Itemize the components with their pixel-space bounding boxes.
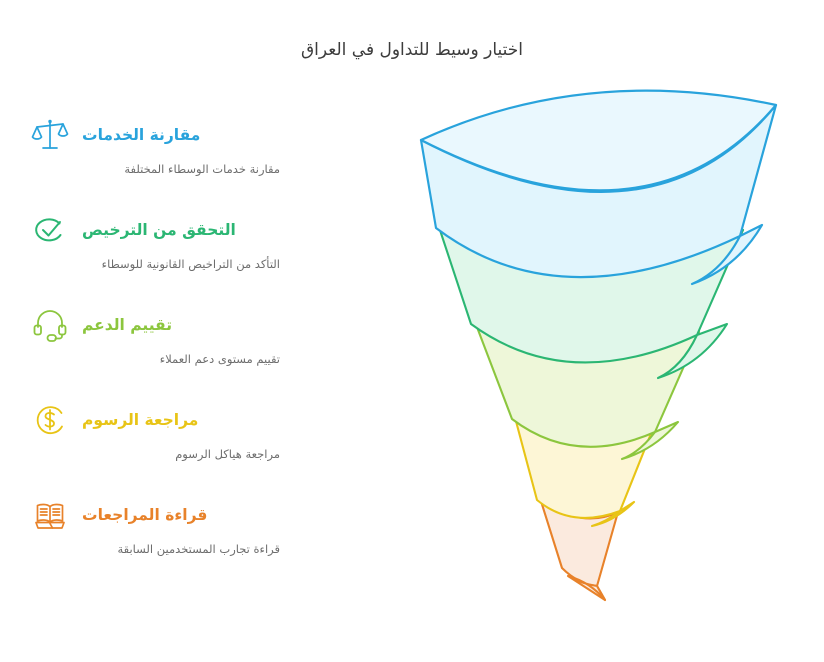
- headset-icon: [30, 305, 70, 345]
- page-title: اختيار وسيط للتداول في العراق: [0, 40, 824, 60]
- step-header: التحقق من الترخيص: [30, 207, 280, 253]
- step-header: مقارنة الخدمات: [30, 112, 280, 158]
- step-description: مراجعة هياكل الرسوم: [30, 447, 280, 461]
- open-book-icon: [30, 495, 70, 535]
- step-title: مراجعة الرسوم: [82, 411, 198, 429]
- step-description: قراءة تجارب المستخدمين السابقة: [30, 542, 280, 556]
- balance-scales-icon: [30, 115, 70, 155]
- step-description: التأكد من التراخيص القانونية للوسطاء: [30, 257, 280, 271]
- step-item-compare-services[interactable]: مقارنة الخدمات مقارنة خدمات الوسطاء المخ…: [30, 112, 280, 207]
- step-item-evaluate-support[interactable]: تقييم الدعم تقييم مستوى دعم العملاء: [30, 302, 280, 397]
- step-title: تقييم الدعم: [82, 316, 172, 334]
- step-item-verify-license[interactable]: التحقق من الترخيص التأكد من التراخيص الق…: [30, 207, 280, 302]
- steps-list: مقارنة الخدمات مقارنة خدمات الوسطاء المخ…: [30, 112, 280, 587]
- step-item-read-reviews[interactable]: قراءة المراجعات ق: [30, 492, 280, 587]
- step-header: مراجعة الرسوم: [30, 397, 280, 443]
- dollar-coin-icon: [30, 400, 70, 440]
- step-title: مقارنة الخدمات: [82, 126, 200, 144]
- step-description: تقييم مستوى دعم العملاء: [30, 352, 280, 366]
- check-circle-icon: [30, 210, 70, 250]
- step-header: تقييم الدعم: [30, 302, 280, 348]
- step-item-review-fees[interactable]: مراجعة الرسوم مراجعة هياكل الرسوم: [30, 397, 280, 492]
- step-header: قراءة المراجعات: [30, 492, 280, 538]
- step-title: قراءة المراجعات: [82, 506, 207, 524]
- infographic-canvas: اختيار وسيط للتداول في العراق مقارنة الخ…: [0, 0, 824, 662]
- funnel-diagram: [390, 88, 810, 618]
- step-description: مقارنة خدمات الوسطاء المختلفة: [30, 162, 280, 176]
- step-title: التحقق من الترخيص: [82, 221, 236, 239]
